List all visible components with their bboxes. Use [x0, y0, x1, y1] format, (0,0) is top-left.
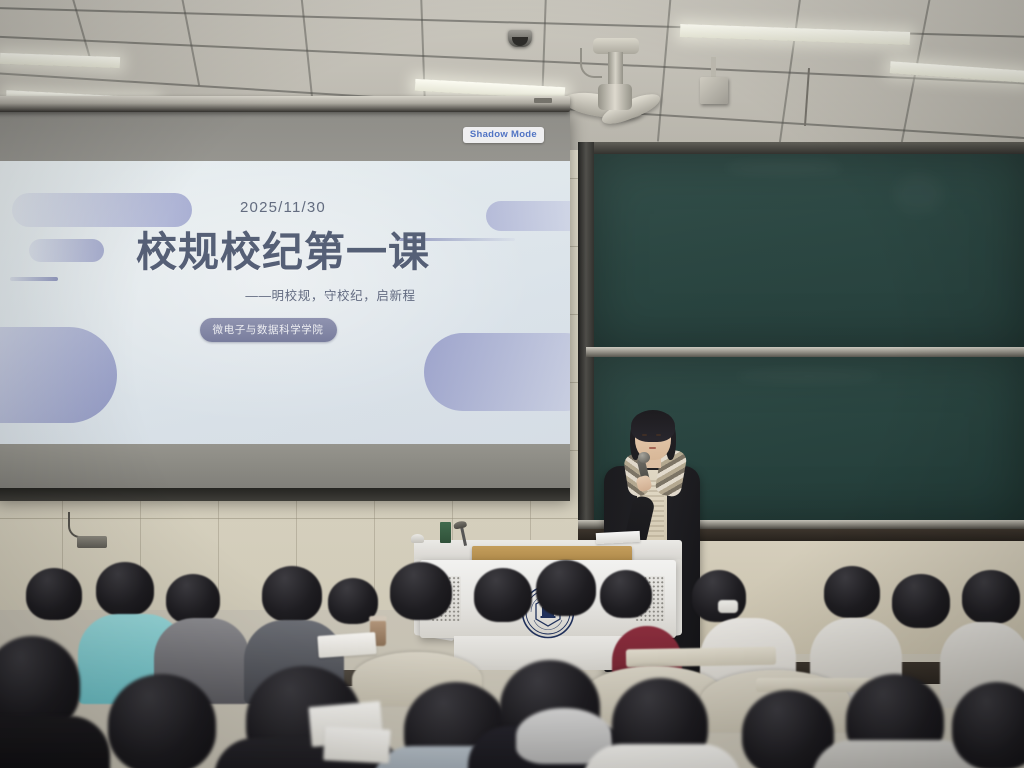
student-torso: [582, 744, 742, 768]
slide-subtitle: ——明校规，守校纪，启新程: [245, 285, 415, 304]
podium-papers: [596, 531, 641, 544]
presenter-hair: [631, 410, 675, 442]
projection-screen: Shadow Mode 2025/11/30 校规校纪第一课 ——明校规，守校纪…: [0, 108, 570, 496]
shadow-mode-badge[interactable]: Shadow Mode: [463, 127, 544, 143]
blackboard-top-rail: [578, 142, 1024, 154]
lecture-hall-photo: Shadow Mode 2025/11/30 校规校纪第一课 ——明校规，守校纪…: [0, 0, 1024, 768]
papers-on-desk: [323, 726, 391, 763]
student-head: [892, 574, 950, 628]
screen-bottom-bar: [0, 488, 570, 501]
student-head: [692, 570, 746, 622]
slide-organization-badge: 微电子与数据科学学院: [200, 318, 337, 342]
podium-knob: [411, 534, 424, 543]
student-head: [536, 560, 596, 616]
student-head: [26, 568, 82, 620]
fan-motor: [598, 84, 632, 110]
ceiling-cable: [804, 68, 810, 126]
device-cable: [68, 512, 84, 538]
audience: [0, 548, 1024, 768]
slide-title: 校规校纪第一课: [136, 218, 430, 278]
student-head: [600, 570, 652, 618]
speaker-mount: [711, 57, 716, 79]
fluorescent-light-panel: [0, 53, 120, 68]
microphone-head: [638, 452, 650, 463]
wall-mounted-device: [77, 536, 107, 548]
projected-slide: 2025/11/30 校规校纪第一课 ——明校规，守校纪，启新程 微电子与数据科…: [0, 161, 570, 444]
dome-camera-icon: [508, 30, 532, 47]
student-head: [962, 570, 1020, 624]
slide-date: 2025/11/30: [240, 199, 326, 216]
podium-green-device: [440, 522, 451, 543]
face-mask: [718, 600, 738, 613]
projector-screen-housing: [0, 96, 570, 112]
wall-speaker: [700, 77, 728, 104]
blackboard-panel-upper: [594, 154, 1024, 349]
blackboard-mid-rail: [586, 347, 1024, 357]
student-torso: [0, 716, 110, 768]
student-head: [824, 566, 880, 618]
open-notebook: [317, 632, 376, 658]
desk-surface: [626, 647, 776, 668]
blackboard-frame: [578, 142, 594, 542]
housing-label: [534, 98, 552, 103]
student-head: [262, 566, 322, 622]
student-head: [166, 574, 220, 624]
student-head: [108, 674, 216, 768]
student-head: [390, 562, 452, 620]
student-head: [474, 568, 532, 622]
student-head: [96, 562, 154, 616]
